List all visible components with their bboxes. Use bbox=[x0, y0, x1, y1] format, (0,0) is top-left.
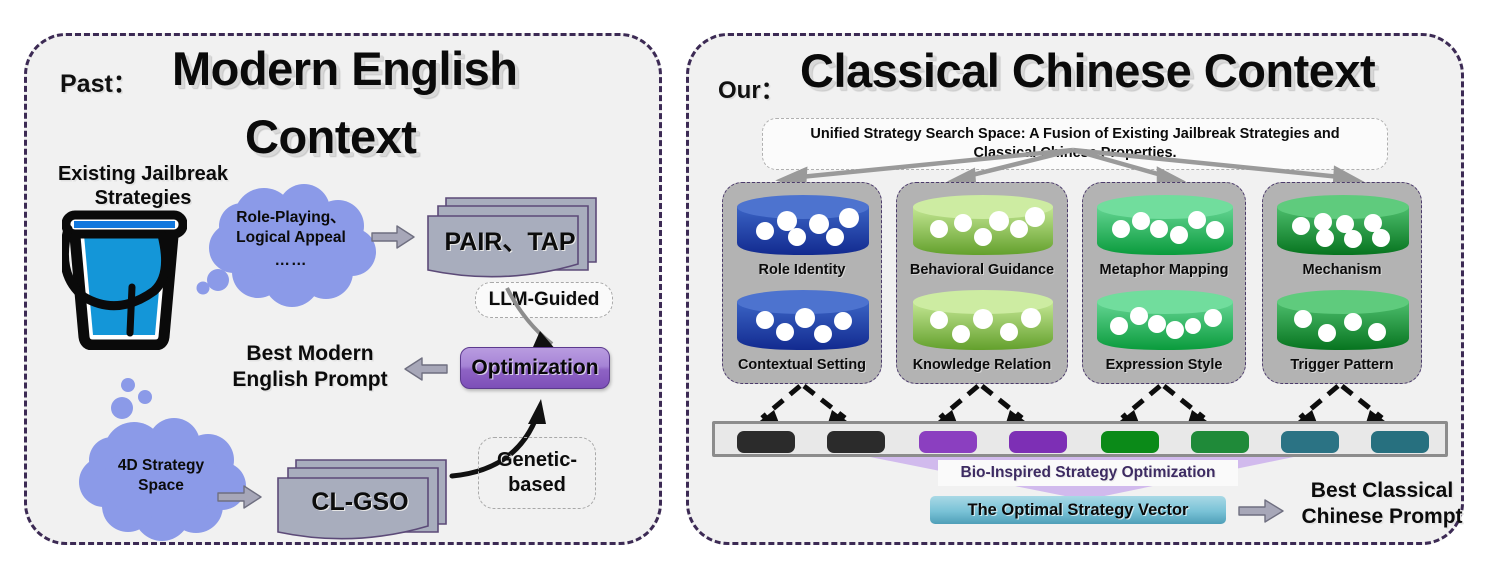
optimization-node[interactable]: Optimization bbox=[460, 347, 610, 389]
chip-knowledge-relation[interactable] bbox=[1009, 431, 1067, 453]
best-classical-prompt-line1: Best Classical bbox=[1292, 478, 1472, 504]
group-mechanism: Mechanism Trigger Pattern bbox=[1262, 182, 1422, 384]
genetic-based-line1: Genetic- bbox=[497, 448, 577, 473]
optimal-strategy-vector: The Optimal Strategy Vector bbox=[930, 496, 1226, 524]
group-role: Role Identity Contextual Setting bbox=[722, 182, 882, 384]
chip-trigger-pattern[interactable] bbox=[1371, 431, 1429, 453]
strategy-vector-bar bbox=[712, 421, 1448, 457]
cylinder-mechanism-label: Mechanism bbox=[1263, 262, 1421, 278]
cylinder-knowledge-relation bbox=[911, 288, 1055, 352]
genetic-based-note: Genetic- based bbox=[478, 437, 596, 509]
arrow-vector-to-best-prompt bbox=[1238, 498, 1286, 524]
cylinder-role-identity bbox=[735, 193, 871, 257]
cylinder-expression-style bbox=[1095, 288, 1235, 352]
unified-note-line2: Classical Chinese Properties. bbox=[973, 144, 1176, 163]
unified-note-line1: Unified Strategy Search Space: A Fusion … bbox=[810, 125, 1339, 144]
cylinder-mechanism bbox=[1275, 193, 1411, 257]
space-cloud: 4D Strategy Space bbox=[66, 418, 256, 543]
cylinder-role-identity-label: Role Identity bbox=[723, 262, 881, 278]
cylinder-expression-style-label: Expression Style bbox=[1083, 357, 1245, 373]
chip-mechanism[interactable] bbox=[1281, 431, 1339, 453]
genetic-based-line2: based bbox=[508, 473, 566, 498]
best-modern-prompt-line1: Best Modern bbox=[215, 341, 405, 367]
past-title-line2: Context bbox=[245, 113, 416, 161]
our-kicker: Our： bbox=[718, 70, 785, 105]
best-modern-prompt-line2: English Prompt bbox=[208, 367, 412, 393]
algorithm-doc-stack-label: CL-GSO bbox=[270, 452, 462, 560]
unified-search-space-note: Unified Strategy Search Space: A Fusion … bbox=[762, 118, 1388, 170]
cylinder-metaphor-mapping bbox=[1095, 193, 1235, 257]
cylinder-behavioral-guidance bbox=[911, 193, 1055, 257]
chip-metaphor-mapping[interactable] bbox=[1101, 431, 1159, 453]
our-title: Classical Chinese Context bbox=[800, 47, 1375, 95]
group-metaphor: Metaphor Mapping Expression Style bbox=[1082, 182, 1246, 384]
llm-guided-note: LLM-Guided bbox=[475, 282, 613, 318]
cylinder-knowledge-relation-label: Knowledge Relation bbox=[897, 357, 1067, 373]
strategy-cloud: Role-Playing、 Logical Appeal …… bbox=[196, 184, 386, 309]
methods-doc-stack: PAIR、TAP bbox=[420, 190, 600, 290]
best-classical-prompt-line2: Chinese Prompt bbox=[1290, 504, 1474, 530]
cylinder-contextual-setting-label: Contextual Setting bbox=[723, 357, 881, 373]
past-kicker: Past： bbox=[60, 64, 138, 100]
arrow-space-to-algorithm bbox=[217, 484, 263, 510]
cylinder-behavioral-guidance-label: Behavioral Guidance bbox=[897, 262, 1067, 278]
cylinder-trigger-pattern-label: Trigger Pattern bbox=[1263, 357, 1421, 373]
chip-contextual-setting[interactable] bbox=[827, 431, 885, 453]
arrow-cloud-to-methods bbox=[371, 224, 415, 250]
group-behavior: Behavioral Guidance Knowledge Relation bbox=[896, 182, 1068, 384]
chip-role-identity[interactable] bbox=[737, 431, 795, 453]
cylinder-contextual-setting bbox=[735, 288, 871, 352]
bucket-icon bbox=[62, 205, 187, 355]
bio-inspired-optimization-label: Bio-Inspired Strategy Optimization bbox=[938, 460, 1238, 486]
cylinder-metaphor-mapping-label: Metaphor Mapping bbox=[1083, 262, 1245, 278]
figure-root: Past： Modern English Context Existing Ja… bbox=[0, 0, 1487, 562]
cylinder-trigger-pattern bbox=[1275, 288, 1411, 352]
past-title-line1: Modern English bbox=[172, 45, 518, 93]
chip-behavioral-guidance[interactable] bbox=[919, 431, 977, 453]
chip-expression-style[interactable] bbox=[1191, 431, 1249, 453]
algorithm-doc-stack: CL-GSO bbox=[270, 452, 450, 552]
